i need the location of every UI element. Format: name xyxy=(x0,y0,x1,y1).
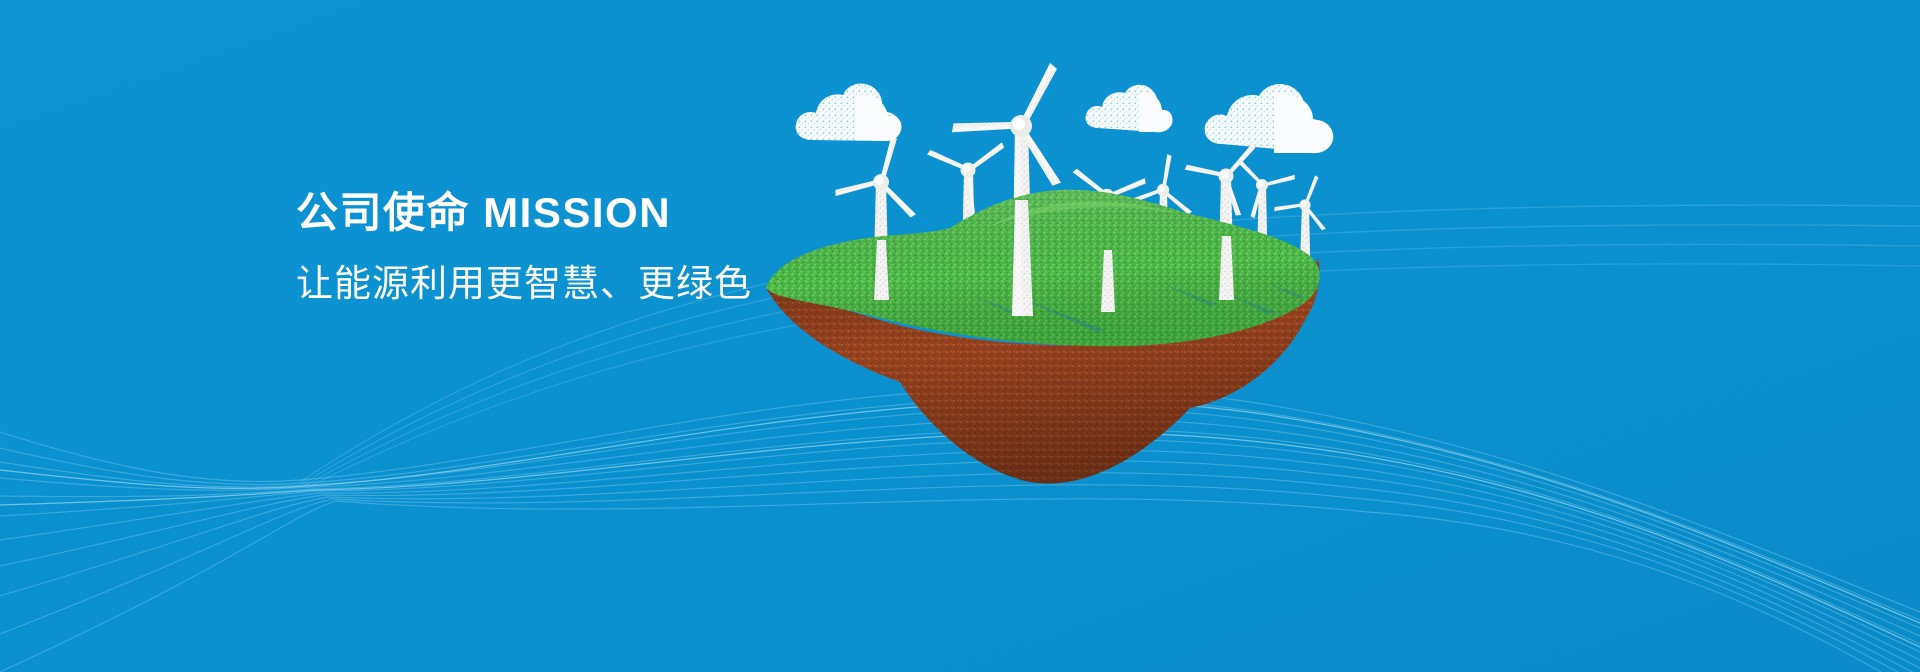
island-illustration xyxy=(0,0,1920,672)
mission-text-block: 公司使命 MISSION 让能源利用更智慧、更绿色 xyxy=(296,186,996,308)
mission-banner: 公司使命 MISSION 让能源利用更智慧、更绿色 xyxy=(0,0,1920,672)
cloud-right xyxy=(1205,84,1334,153)
page-subtitle: 让能源利用更智慧、更绿色 xyxy=(296,260,996,308)
page-title: 公司使命 MISSION xyxy=(296,186,996,240)
cloud-left xyxy=(796,84,902,142)
cloud-middle xyxy=(1086,85,1173,132)
